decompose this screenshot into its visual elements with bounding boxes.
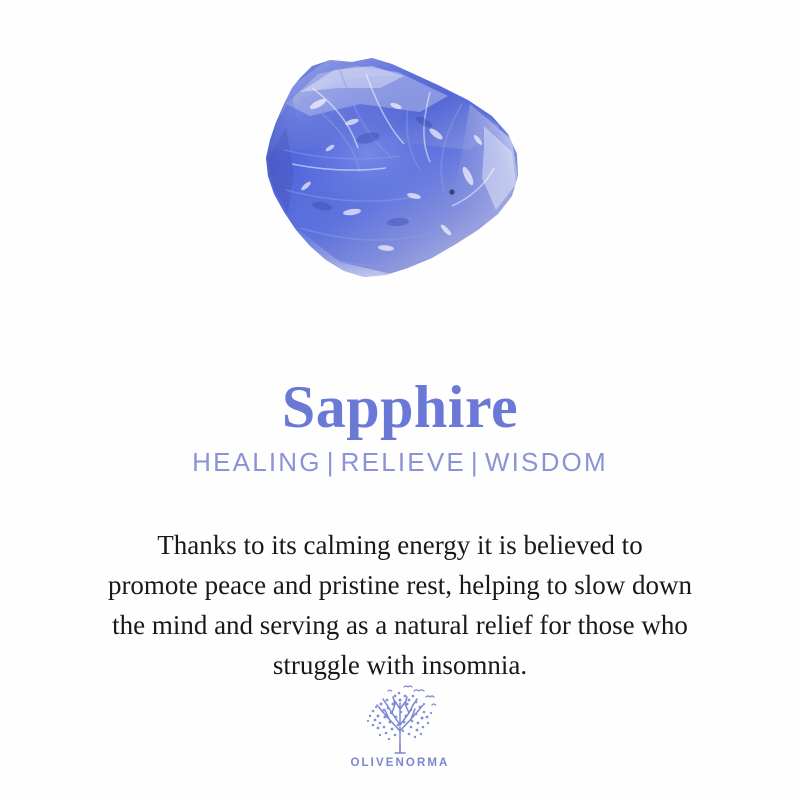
gem-facets bbox=[262, 58, 518, 284]
description-text: Thanks to its calming energy it is belie… bbox=[22, 525, 778, 685]
keyword-healing: HEALING bbox=[192, 447, 322, 477]
rough-sapphire-crystal-icon bbox=[0, 0, 800, 320]
keyword-separator-1: | bbox=[322, 447, 341, 477]
sapphire-info-card: Sapphire HEALING|RELIEVE|WISDOM Thanks t… bbox=[0, 0, 800, 800]
brand-wordmark: OLIVENORMA bbox=[351, 757, 450, 769]
keyword-list: HEALING|RELIEVE|WISDOM bbox=[0, 445, 800, 479]
keyword-wisdom: WISDOM bbox=[485, 447, 608, 477]
description-line: the mind and serving as a natural relief… bbox=[22, 605, 778, 645]
gemstone-image-container bbox=[0, 0, 800, 320]
olive-tree-icon bbox=[354, 683, 446, 755]
page-title: Sapphire bbox=[0, 370, 800, 444]
description-line: Thanks to its calming energy it is belie… bbox=[22, 525, 778, 565]
brand-logo[interactable]: OLIVENORMA bbox=[0, 683, 800, 769]
description-line: struggle with insomnia. bbox=[22, 645, 778, 685]
keyword-relieve: RELIEVE bbox=[341, 447, 466, 477]
description-line: promote peace and pristine rest, helping… bbox=[22, 565, 778, 605]
keyword-separator-2: | bbox=[466, 447, 485, 477]
